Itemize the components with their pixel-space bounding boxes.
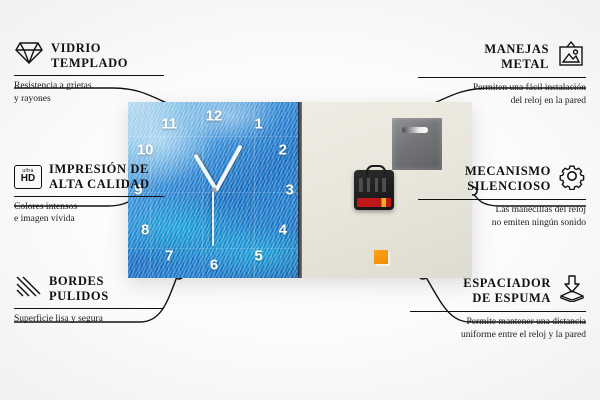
clock-numeral-3: 3 xyxy=(286,183,294,198)
diamond-icon xyxy=(14,40,44,71)
feature-title-line2: PULIDOS xyxy=(49,289,109,304)
clock-numeral-2: 2 xyxy=(279,143,287,158)
gear-icon xyxy=(558,162,586,195)
clock-numeral-6: 6 xyxy=(210,258,218,273)
feature-vidrio-templado: VIDRIO TEMPLADO Resistencia a grietas y … xyxy=(14,40,164,106)
clock-numeral-12: 12 xyxy=(206,109,223,124)
feature-subtitle-line2: e imagen vívida xyxy=(14,213,164,226)
mechanism-label xyxy=(357,198,391,207)
ultra-hd-icon-main: HD xyxy=(21,174,35,184)
feature-rule xyxy=(418,199,586,200)
feature-subtitle-line1: Superficie lisa y segura xyxy=(14,313,164,326)
feature-subtitle-line1: Permiten una fácil instalación xyxy=(418,82,586,95)
feature-title-line1: BORDES xyxy=(49,274,109,289)
clock-hour-hand xyxy=(193,154,217,190)
feature-title: IMPRESIÓN DE ALTA CALIDAD xyxy=(49,162,150,192)
feature-title-line2: METAL xyxy=(484,57,549,72)
feature-rule xyxy=(14,196,164,197)
mechanism-hook xyxy=(366,165,386,175)
feature-title-line1: ESPACIADOR xyxy=(463,276,551,291)
feature-title-line2: ALTA CALIDAD xyxy=(49,177,150,192)
feature-espaciador-de-espuma: ESPACIADOR DE ESPUMA Permite mantener un… xyxy=(410,274,586,342)
feature-subtitle-line2: y rayones xyxy=(14,93,164,106)
foam-spacer-pad xyxy=(374,250,388,264)
feature-rule xyxy=(14,75,164,76)
feature-title: MECANISMO SILENCIOSO xyxy=(465,164,551,194)
clock-minute-hand xyxy=(214,145,243,192)
feature-rule xyxy=(410,311,586,312)
feature-header: BORDES PULIDOS xyxy=(14,274,164,304)
arrow-down-pad-icon xyxy=(558,274,586,307)
feature-bordes-pulidos: BORDES PULIDOS Superficie lisa y segura xyxy=(14,274,164,325)
clock-numeral-4: 4 xyxy=(279,223,287,238)
quartz-clock-mechanism xyxy=(354,170,394,210)
feature-header: MANEJAS METAL xyxy=(418,40,586,73)
feature-title: BORDES PULIDOS xyxy=(49,274,109,304)
feature-title: VIDRIO TEMPLADO xyxy=(51,41,128,71)
feature-impresion-alta-calidad: ultra HD IMPRESIÓN DE ALTA CALIDAD Color… xyxy=(14,162,164,226)
hanger-keyhole-slot xyxy=(402,127,428,133)
feature-subtitle-line1: Colores intensos xyxy=(14,201,164,214)
feature-subtitle-line2: del reloj en la pared xyxy=(418,95,586,108)
feature-subtitle-line1: Resistencia a grietas xyxy=(14,80,164,93)
feature-subtitle: Las manecillas del reloj no emiten ningú… xyxy=(418,204,586,230)
clock-numeral-5: 5 xyxy=(255,249,263,264)
feature-header: ESPACIADOR DE ESPUMA xyxy=(410,274,586,307)
feature-subtitle: Permiten una fácil instalación del reloj… xyxy=(418,82,586,108)
feature-title-line2: TEMPLADO xyxy=(51,56,128,71)
clock-numeral-11: 11 xyxy=(161,117,177,132)
clock-second-hand xyxy=(213,190,215,246)
feature-header: MECANISMO SILENCIOSO xyxy=(418,162,586,195)
feature-title-line1: VIDRIO xyxy=(51,41,128,56)
feature-title-line1: MANEJAS xyxy=(484,42,549,57)
feature-title: ESPACIADOR DE ESPUMA xyxy=(463,276,551,306)
feature-subtitle: Permite mantener una distancia uniforme … xyxy=(410,316,586,342)
feature-title-line1: MECANISMO xyxy=(465,164,551,179)
feature-title-line2: SILENCIOSO xyxy=(465,179,551,194)
feature-subtitle: Colores intensos e imagen vívida xyxy=(14,201,164,227)
feature-rule xyxy=(418,77,586,78)
feature-manejas-metal: MANEJAS METAL Permiten una fácil instala… xyxy=(418,40,586,108)
clock-numeral-1: 1 xyxy=(255,117,263,132)
clock-numeral-7: 7 xyxy=(165,249,173,264)
feature-subtitle-line2: uniforme entre el reloj y la pared xyxy=(410,329,586,342)
feature-title-line1: IMPRESIÓN DE xyxy=(49,162,150,177)
feature-title-line2: DE ESPUMA xyxy=(463,291,551,306)
feature-subtitle-line1: Las manecillas del reloj xyxy=(418,204,586,217)
diagonal-lines-icon xyxy=(14,274,42,303)
picture-frame-hanger-icon xyxy=(556,40,586,73)
feature-mecanismo-silencioso: MECANISMO SILENCIOSO Las manecillas del … xyxy=(418,162,586,230)
clock-center-cap xyxy=(212,188,217,193)
feature-subtitle-line1: Permite mantener una distancia xyxy=(410,316,586,329)
ultra-hd-icon: ultra HD xyxy=(14,165,42,189)
infographic-stage: 12 1 2 3 4 5 6 7 8 9 10 11 xyxy=(0,0,600,400)
feature-title: MANEJAS METAL xyxy=(484,42,549,72)
feature-rule xyxy=(14,308,164,309)
feature-header: ultra HD IMPRESIÓN DE ALTA CALIDAD xyxy=(14,162,164,192)
feature-header: VIDRIO TEMPLADO xyxy=(14,40,164,71)
feature-subtitle-line2: no emiten ningún sonido xyxy=(418,217,586,230)
clock-numeral-10: 10 xyxy=(137,143,154,158)
feature-subtitle: Resistencia a grietas y rayones xyxy=(14,80,164,106)
mechanism-detail xyxy=(359,178,389,192)
feature-subtitle: Superficie lisa y segura xyxy=(14,313,164,326)
